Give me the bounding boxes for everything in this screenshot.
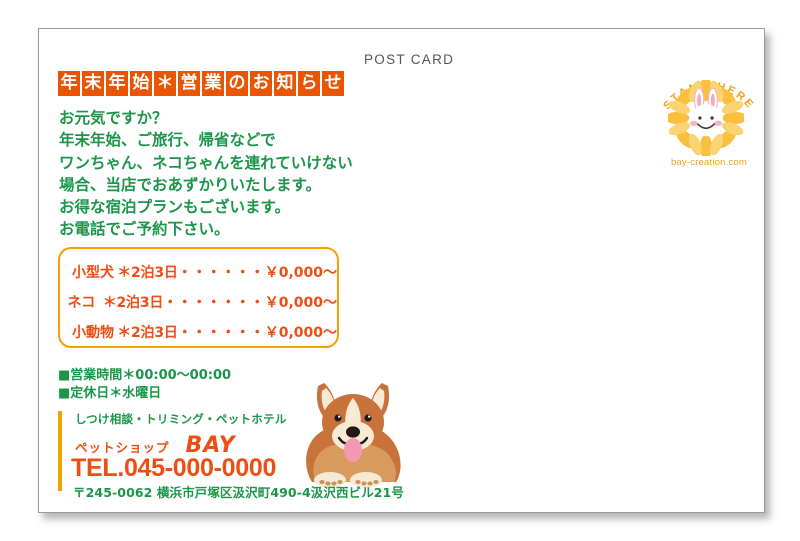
body-line: 年末年始、ご旅行、帰省などで — [59, 129, 353, 151]
price-label: ネコ — [60, 292, 103, 312]
price-value: ￥0,000〜 — [265, 262, 337, 282]
post-card-label: POST CARD — [364, 52, 454, 67]
footer-tagline: しつけ相談・トリミング・ペットホテル — [75, 411, 287, 427]
footer-accent-bar — [58, 411, 62, 491]
body-line: お元気ですか？ — [59, 107, 353, 129]
title-char: 年 — [106, 71, 128, 96]
price-value: ￥0,000〜 — [265, 292, 337, 312]
price-label: 小型犬 — [60, 262, 117, 282]
price-plan: ＊2泊3日 — [117, 322, 177, 342]
business-hours-line: ■営業時間＊00:00〜00:00 — [58, 367, 231, 385]
screenshot-stage: POST CARD STAMP HERE — [0, 0, 800, 541]
stamp-logo: STAMP HERE — [651, 59, 767, 171]
title-char: 営 — [178, 71, 200, 96]
stamp-url-text: bay-creation.com — [651, 157, 767, 168]
postcard: POST CARD STAMP HERE — [38, 28, 765, 513]
title-banner: 年 末 年 始 ＊ 営 業 の お 知 ら せ — [58, 71, 344, 96]
telephone-number[interactable]: TEL.045-000-0000 — [71, 454, 276, 483]
price-plan: ＊2泊3日 — [117, 262, 177, 282]
title-char: ら — [298, 71, 320, 96]
price-value: ￥0,000〜 — [265, 322, 337, 342]
title-char: せ — [322, 71, 344, 96]
title-char: お — [250, 71, 272, 96]
sunflower-rabbit-icon — [668, 80, 744, 156]
title-char: 始 — [130, 71, 152, 96]
price-box: 小型犬 ＊2泊3日 ・・・・・・ ￥0,000〜 ネコ ＊2泊3日 ・・・・・・… — [58, 247, 339, 348]
body-copy: お元気ですか？ 年末年始、ご旅行、帰省などで ワンちゃん、ネコちゃんを連れていけ… — [59, 107, 353, 241]
title-char: ＊ — [154, 71, 176, 96]
price-dots: ・・・・・・ — [178, 322, 265, 342]
title-char: 業 — [202, 71, 224, 96]
price-row: ネコ ＊2泊3日 ・・・・・・・ ￥0,000〜 — [60, 292, 337, 312]
price-label: 小動物 — [60, 322, 117, 342]
body-line: ワンちゃん、ネコちゃんを連れていけない — [59, 152, 353, 174]
price-dots: ・・・・・・・ — [163, 292, 265, 312]
shop-kana-label: ペットショップ — [75, 440, 170, 455]
body-line: お得な宿泊プランもございます。 — [59, 196, 353, 218]
body-line: 場合、当店でおあずかりいたします。 — [59, 174, 353, 196]
footer-contact-block: しつけ相談・トリミング・ペットホテル ペットショップBAY TEL.045-00… — [58, 411, 408, 491]
title-char: の — [226, 71, 248, 96]
hours-block: ■営業時間＊00:00〜00:00 ■定休日＊水曜日 — [58, 367, 231, 402]
title-char: 知 — [274, 71, 296, 96]
body-line: お電話でご予約下さい。 — [59, 218, 353, 240]
price-row: 小型犬 ＊2泊3日 ・・・・・・ ￥0,000〜 — [60, 262, 337, 282]
title-char: 末 — [82, 71, 104, 96]
price-plan: ＊2泊3日 — [103, 292, 163, 312]
price-dots: ・・・・・・ — [178, 262, 265, 282]
title-char: 年 — [58, 71, 80, 96]
postal-address: 〒245-0062 横浜市戸塚区汲沢町490-4汲沢西ビル21号 — [73, 482, 404, 501]
closed-day-line: ■定休日＊水曜日 — [58, 385, 231, 403]
price-row: 小動物 ＊2泊3日 ・・・・・・ ￥0,000〜 — [60, 322, 337, 342]
